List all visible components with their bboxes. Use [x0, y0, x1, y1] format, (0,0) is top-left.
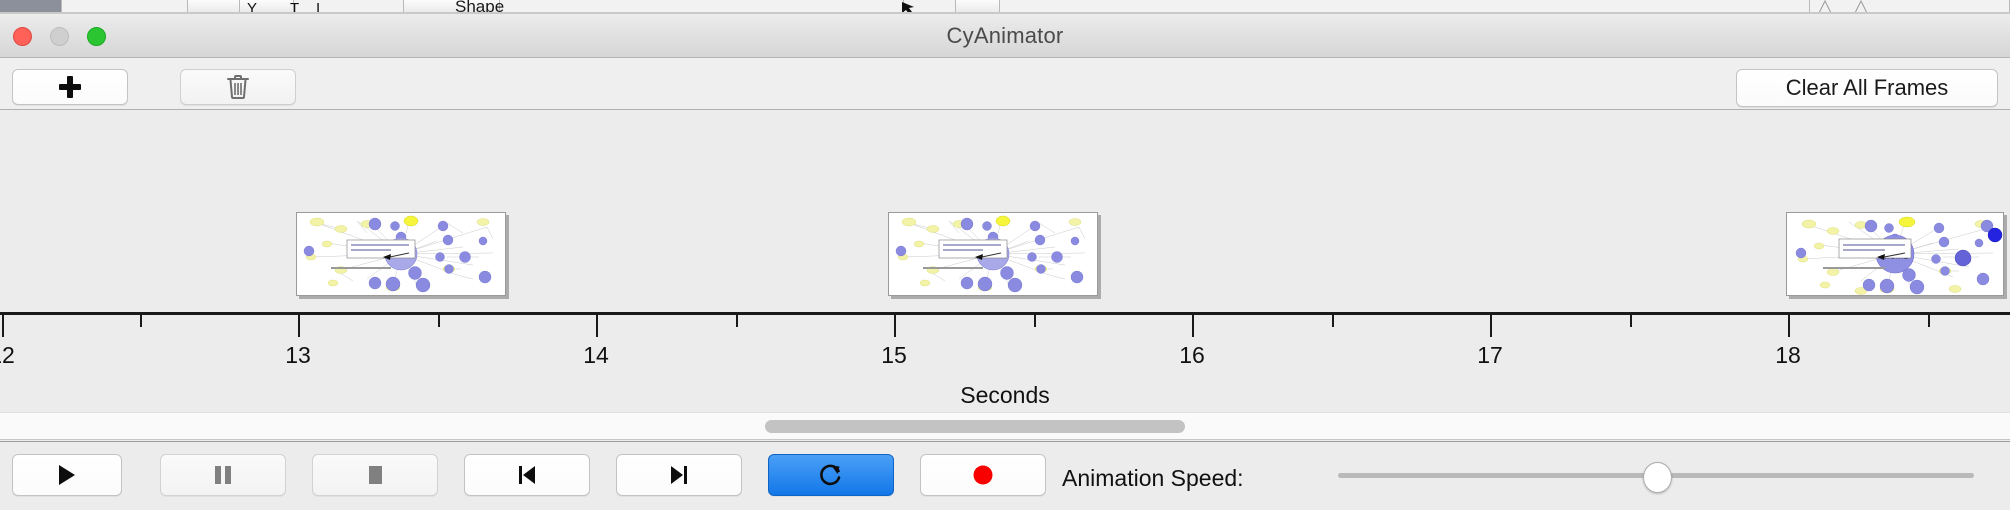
- keyframe-thumbnail[interactable]: MCM1: [296, 212, 506, 296]
- animation-speed-slider[interactable]: [1338, 454, 1974, 496]
- stop-button[interactable]: [312, 454, 438, 496]
- playback-toolbar: Animation Speed:: [0, 441, 2010, 510]
- axis-tick-major: [596, 315, 598, 337]
- axis-tick-minor: [1034, 315, 1036, 327]
- axis-tick-label: 12: [0, 342, 15, 369]
- skip-forward-icon: [667, 463, 691, 487]
- plus-icon: [59, 76, 81, 98]
- trash-icon: [226, 74, 250, 100]
- skip-back-icon: [515, 463, 539, 487]
- keyframes-track[interactable]: MCM1: [0, 110, 2010, 312]
- axis-tick-major: [894, 315, 896, 337]
- axis-tick-label: 13: [285, 342, 311, 369]
- axis-tick-label: 15: [881, 342, 907, 369]
- pause-button[interactable]: [160, 454, 286, 496]
- axis-tick-label: 17: [1477, 342, 1503, 369]
- add-frame-button[interactable]: [12, 69, 128, 105]
- window-title: CyAnimator: [0, 14, 2010, 58]
- frames-toolbar: Clear All Frames: [0, 58, 2010, 110]
- timeline-scrollbar[interactable]: [0, 412, 2010, 440]
- delete-frame-button[interactable]: [180, 69, 296, 105]
- network-graph-preview: MCM1: [1787, 213, 2003, 295]
- axis-tick-minor: [140, 315, 142, 327]
- animation-speed-label: Animation Speed:: [1062, 465, 1244, 492]
- skip-start-button[interactable]: [464, 454, 590, 496]
- skip-end-button[interactable]: [616, 454, 742, 496]
- network-graph-preview: MCM1: [889, 213, 1097, 295]
- axis-tick-label: 18: [1775, 342, 1801, 369]
- title-bar: CyAnimator: [0, 14, 2010, 58]
- slider-thumb[interactable]: [1643, 462, 1672, 493]
- scrollbar-thumb[interactable]: [765, 420, 1185, 433]
- axis-tick-major: [298, 315, 300, 337]
- stop-icon: [364, 463, 386, 487]
- network-graph-preview: MCM1: [297, 213, 505, 295]
- keyframe-thumbnail[interactable]: MCM1: [1786, 212, 2004, 296]
- keyframe-thumbnail[interactable]: MCM1: [888, 212, 1098, 296]
- axis-tick-minor: [1630, 315, 1632, 327]
- background-windows-strip: Y T I Shape: [0, 0, 2010, 14]
- axis-line: [0, 312, 2010, 315]
- clear-all-frames-button[interactable]: Clear All Frames: [1736, 69, 1998, 107]
- axis-tick-label: 16: [1179, 342, 1205, 369]
- axis-tick-minor: [438, 315, 440, 327]
- axis-tick-major: [1490, 315, 1492, 337]
- axis-tick-minor: [736, 315, 738, 327]
- axis-tick-major: [2, 315, 4, 337]
- axis-caption: Seconds: [0, 382, 2010, 409]
- axis-tick-minor: [1928, 315, 1930, 327]
- axis-tick-minor: [1332, 315, 1334, 327]
- axis-tick-major: [1192, 315, 1194, 337]
- axis-tick-major: [1788, 315, 1790, 337]
- play-icon: [56, 463, 78, 487]
- loop-icon: [818, 462, 844, 488]
- pause-icon: [212, 463, 234, 487]
- record-icon: [971, 463, 995, 487]
- timeline-axis[interactable]: 12 13 14 15 16 17 18 Seconds: [0, 312, 2010, 412]
- axis-tick-label: 14: [583, 342, 609, 369]
- clear-all-frames-label: Clear All Frames: [1786, 75, 1949, 101]
- loop-button[interactable]: [768, 454, 894, 496]
- record-button[interactable]: [920, 454, 1046, 496]
- play-button[interactable]: [12, 454, 122, 496]
- cyanimator-window: Y T I Shape CyAnimator: [0, 0, 2010, 510]
